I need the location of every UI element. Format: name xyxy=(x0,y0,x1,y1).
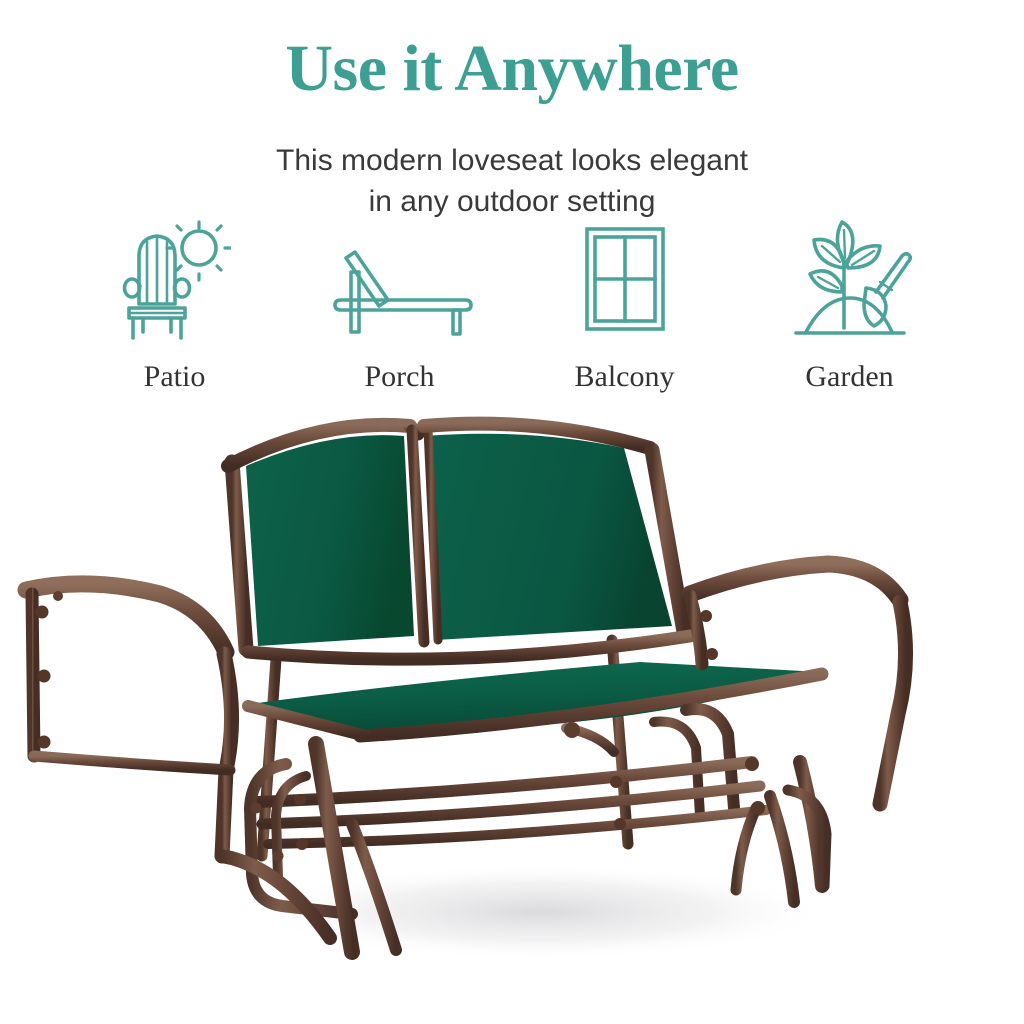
marketing-image: Use it Anywhere This modern loveseat loo… xyxy=(0,0,1024,1024)
backrest-fabric-right xyxy=(424,434,672,640)
plant-shovel-icon xyxy=(788,216,912,342)
window-pane-icon xyxy=(575,216,675,342)
glider-loveseat-illustration xyxy=(0,404,1024,1024)
use-case-label-garden: Garden xyxy=(805,362,893,392)
page-subtitle: This modern loveseat looks elegant in an… xyxy=(0,140,1024,222)
subtitle-line-1: This modern loveseat looks elegant xyxy=(0,140,1024,181)
use-case-garden: Garden xyxy=(737,216,962,392)
use-case-label-balcony: Balcony xyxy=(575,362,675,392)
backrest-frame xyxy=(228,424,690,660)
use-case-label-porch: Porch xyxy=(365,362,435,392)
use-case-label-patio: Patio xyxy=(144,362,206,392)
backrest-fabric-left xyxy=(246,435,414,646)
seat xyxy=(248,662,822,736)
chaise-lounge-icon xyxy=(325,216,475,342)
page-title: Use it Anywhere xyxy=(0,36,1024,102)
armrest-left xyxy=(26,584,232,856)
adirondack-chair-sun-icon xyxy=(119,216,231,342)
use-case-patio: Patio xyxy=(62,216,287,392)
use-case-icon-row: Patio Porch xyxy=(62,216,962,392)
use-case-porch: Porch xyxy=(287,216,512,392)
use-case-balcony: Balcony xyxy=(512,216,737,392)
product-image xyxy=(0,404,1024,1024)
